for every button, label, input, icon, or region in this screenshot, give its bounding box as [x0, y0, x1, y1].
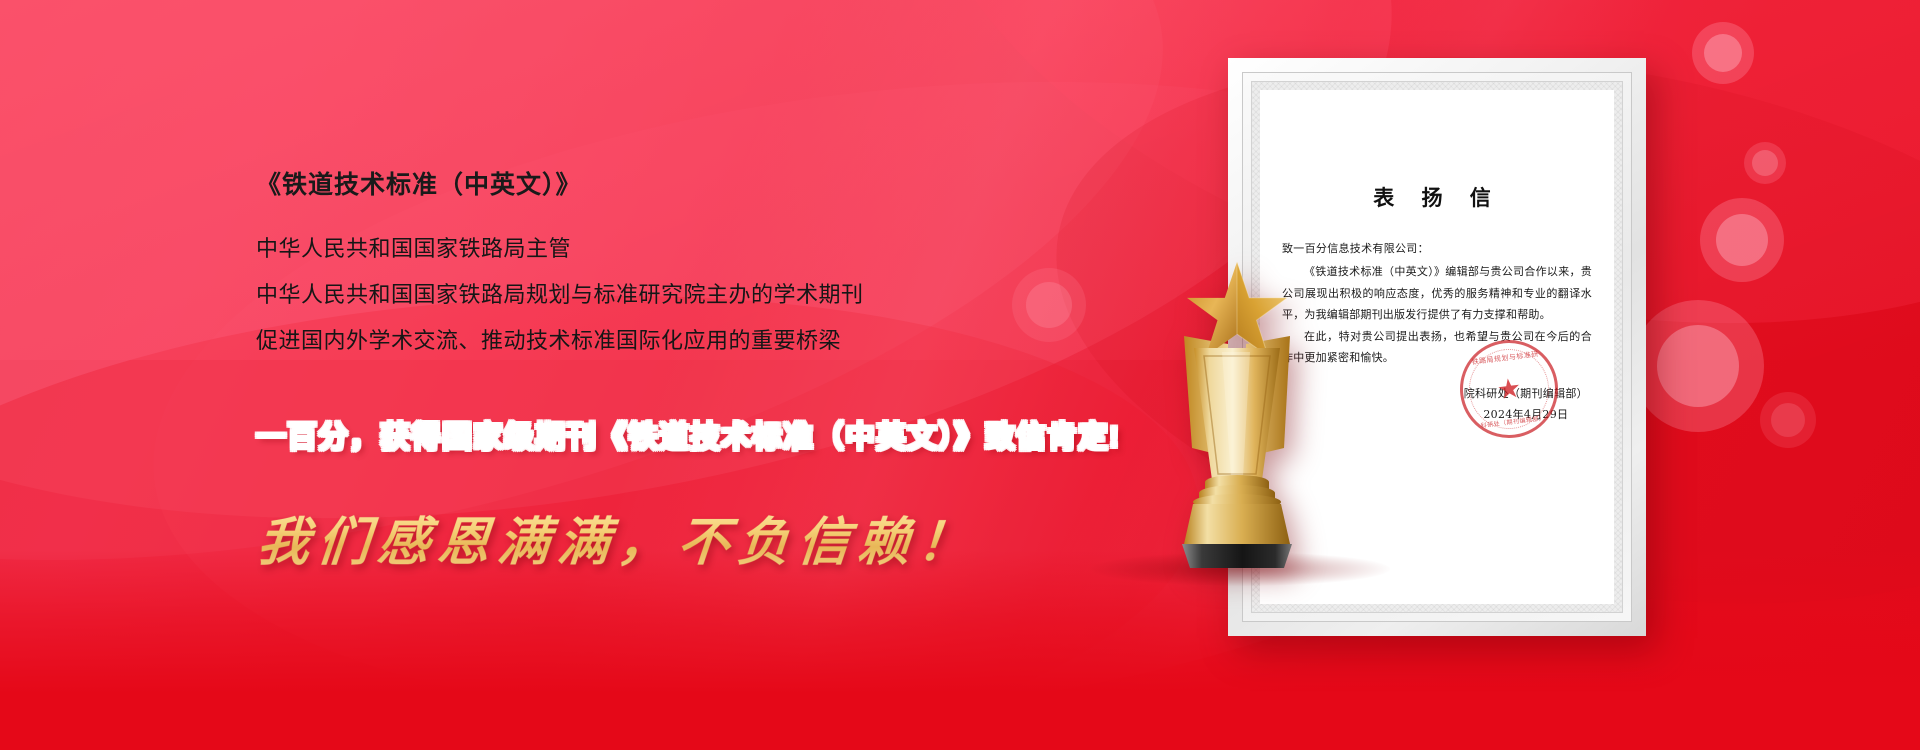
award-banner: 《铁道技术标准（中英文）》 中华人民共和国国家铁路局主管 中华人民共和国国家铁路… — [0, 0, 1920, 750]
certificate-heading: 表 扬 信 — [1282, 182, 1592, 212]
copy-block: 《铁道技术标准（中英文）》 中华人民共和国国家铁路局主管 中华人民共和国国家铁路… — [256, 170, 1156, 352]
bokeh-circle-icon — [1692, 22, 1754, 84]
bokeh-circle-icon — [1744, 142, 1786, 184]
subtitle-line-2: 中华人民共和国国家铁路局规划与标准研究院主办的学术期刊 — [256, 284, 1156, 306]
slogan-calligraphy: 我们感恩满满，不负信赖！ — [255, 500, 982, 575]
bokeh-circle-icon — [1700, 198, 1784, 282]
subtitle-line-1: 中华人民共和国国家铁路局主管 — [256, 238, 1156, 260]
certificate-date: 2024年4月29日 — [1464, 405, 1588, 426]
headline-text: 一百分，获得国家级期刊《铁道技术标准（中英文）》致信肯定! — [256, 412, 1120, 456]
subtitle-line-3: 促进国内外学术交流、推动技术标准国际化应用的重要桥梁 — [256, 330, 1156, 352]
certificate-signature: 院科研处（期刊编辑部） — [1464, 384, 1588, 405]
bokeh-circle-icon — [1760, 392, 1816, 448]
journal-title: 《铁道技术标准（中英文）》 — [256, 170, 1156, 200]
certificate-signature-block: 院科研处（期刊编辑部） 2024年4月29日 — [1464, 384, 1588, 426]
bokeh-circle-icon — [1632, 300, 1764, 432]
star-trophy-icon — [1132, 252, 1342, 570]
